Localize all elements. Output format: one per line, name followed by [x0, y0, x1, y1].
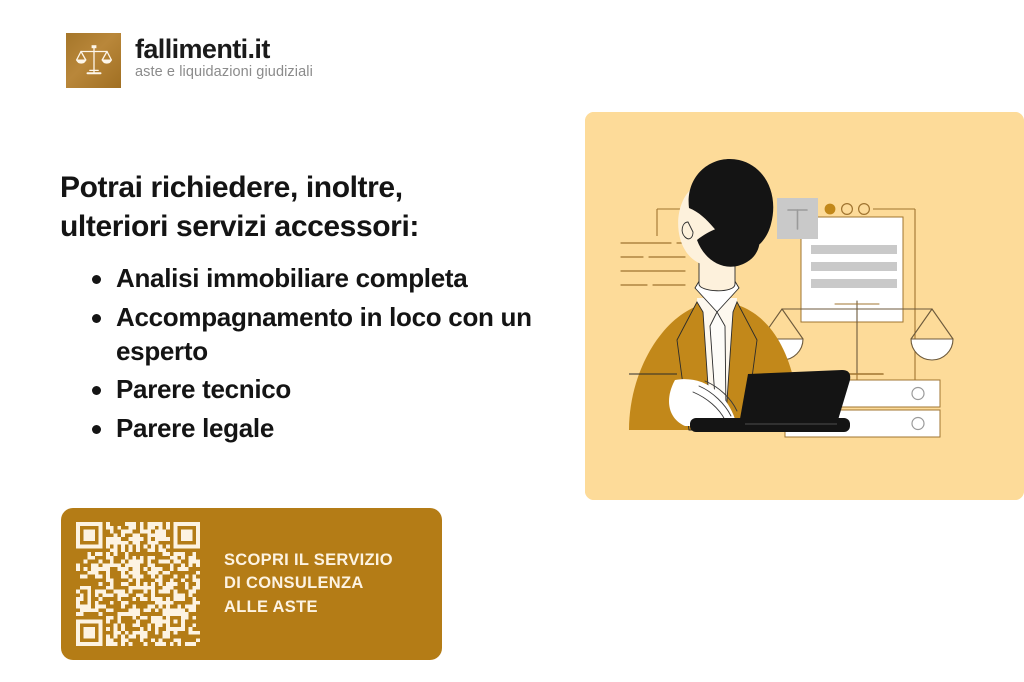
bullet-icon	[92, 386, 101, 395]
brand-title: fallimenti.it	[135, 35, 313, 63]
benefits-list: Analisi immobiliare completa Accompagnam…	[88, 262, 558, 451]
cta-line-3: ALLE ASTE	[224, 596, 393, 619]
headline-line-2: ulteriori servizi accessori:	[60, 210, 419, 243]
page-title: Potrai richiedere, inoltre, ulteriori se…	[60, 168, 540, 246]
bullet-icon	[92, 275, 101, 284]
list-item: Parere legale	[88, 412, 558, 446]
brand-logo[interactable]: fallimenti.it aste e liquidazioni giudiz…	[66, 33, 313, 88]
scales-of-justice-icon	[66, 33, 121, 88]
lawyer-at-laptop-illustration	[585, 112, 1024, 500]
headline-line-1: Potrai richiedere, inoltre,	[60, 171, 403, 204]
cta-line-2: DI CONSULENZA	[224, 572, 393, 595]
cta-label: SCOPRI IL SERVIZIO DI CONSULENZA ALLE AS…	[224, 549, 393, 619]
cta-banner[interactable]: SCOPRI IL SERVIZIO DI CONSULENZA ALLE AS…	[61, 508, 442, 660]
qr-code-icon[interactable]	[76, 522, 200, 646]
list-item-label: Parere legale	[116, 413, 274, 443]
list-item: Parere tecnico	[88, 373, 558, 407]
brand-subtitle: aste e liquidazioni giudiziali	[135, 65, 313, 81]
list-item-label: Parere tecnico	[116, 374, 291, 404]
text-tile-T	[777, 198, 818, 239]
cta-line-1: SCOPRI IL SERVIZIO	[224, 549, 393, 572]
list-item: Analisi immobiliare completa	[88, 262, 558, 296]
list-item-label: Analisi immobiliare completa	[116, 263, 467, 293]
list-item: Accompagnamento in loco con un esperto	[88, 301, 558, 369]
bullet-icon	[92, 425, 101, 434]
list-item-label: Accompagnamento in loco con un esperto	[116, 302, 532, 366]
brand-wordmark: fallimenti.it aste e liquidazioni giudiz…	[135, 33, 313, 81]
bullet-icon	[92, 314, 101, 323]
